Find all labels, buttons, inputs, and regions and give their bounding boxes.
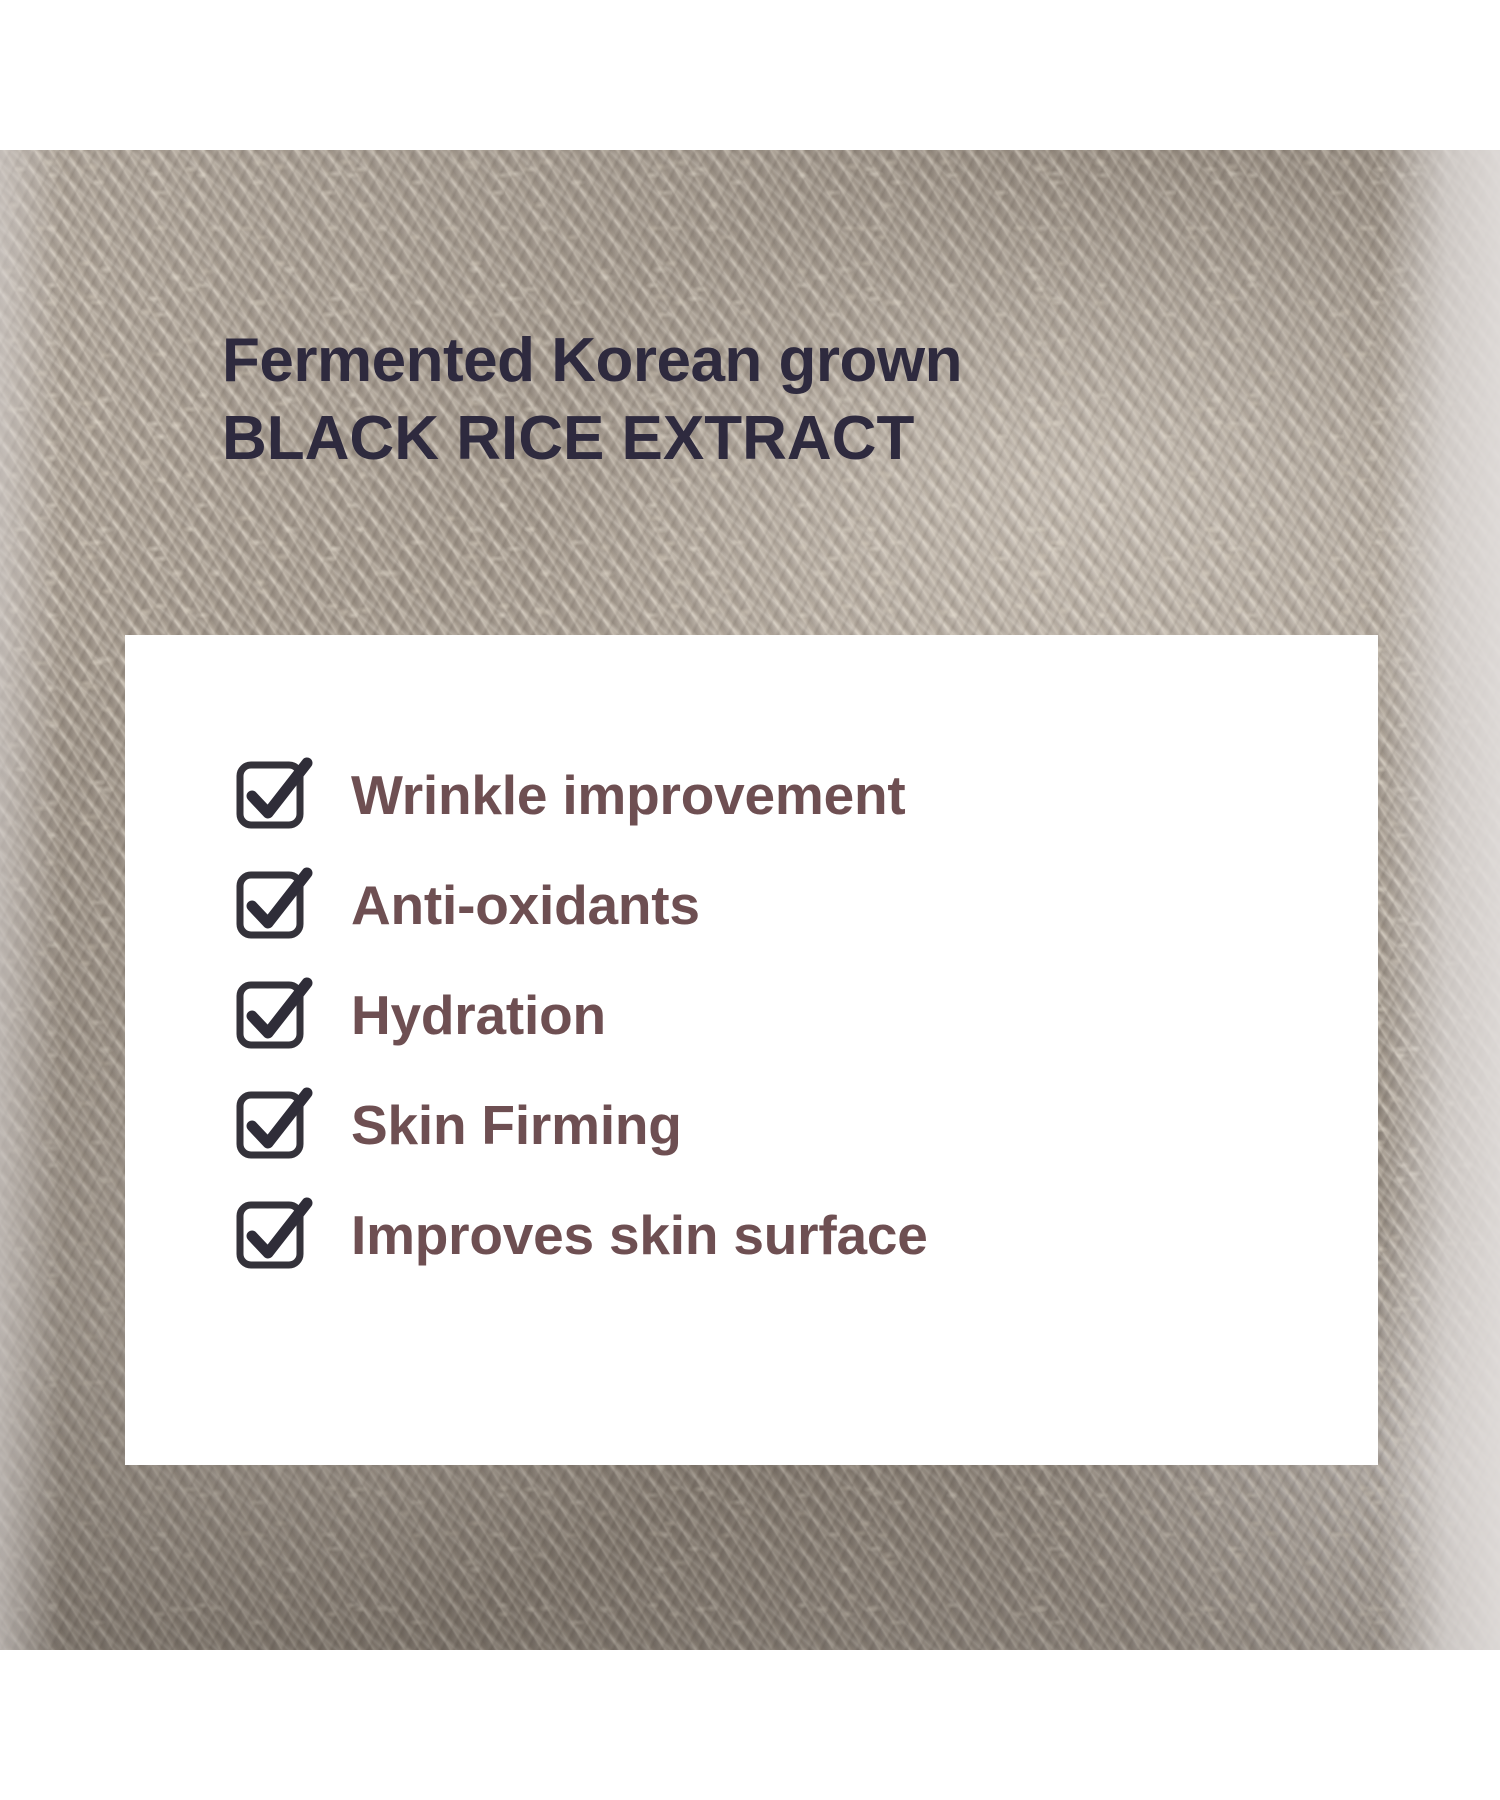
list-item-label: Anti-oxidants bbox=[351, 874, 700, 936]
list-item-label: Improves skin surface bbox=[351, 1204, 928, 1266]
title-line-primary: Fermented Korean grown bbox=[222, 322, 1322, 400]
benefits-list: Wrinkle improvement Anti-oxidants bbox=[235, 740, 928, 1290]
checkbox-checked-icon bbox=[235, 868, 309, 942]
benefits-card: Wrinkle improvement Anti-oxidants bbox=[125, 635, 1378, 1465]
photo-left-fade bbox=[0, 150, 60, 1650]
checkbox-checked-icon bbox=[235, 758, 309, 832]
photo-right-fade bbox=[1380, 150, 1500, 1650]
list-item-label: Wrinkle improvement bbox=[351, 764, 906, 826]
list-item: Wrinkle improvement bbox=[235, 740, 928, 850]
list-item: Hydration bbox=[235, 960, 928, 1070]
list-item: Improves skin surface bbox=[235, 1180, 928, 1290]
list-item-label: Hydration bbox=[351, 984, 606, 1046]
list-item: Anti-oxidants bbox=[235, 850, 928, 960]
list-item: Skin Firming bbox=[235, 1070, 928, 1180]
list-item-label: Skin Firming bbox=[351, 1094, 682, 1156]
checkbox-checked-icon bbox=[235, 1088, 309, 1162]
checkbox-checked-icon bbox=[235, 1198, 309, 1272]
checkbox-checked-icon bbox=[235, 978, 309, 1052]
page-title: Fermented Korean grown BLACK RICE EXTRAC… bbox=[222, 322, 1322, 478]
product-feature-banner: Fermented Korean grown BLACK RICE EXTRAC… bbox=[0, 0, 1500, 1800]
title-line-secondary: BLACK RICE EXTRACT bbox=[222, 400, 1322, 478]
